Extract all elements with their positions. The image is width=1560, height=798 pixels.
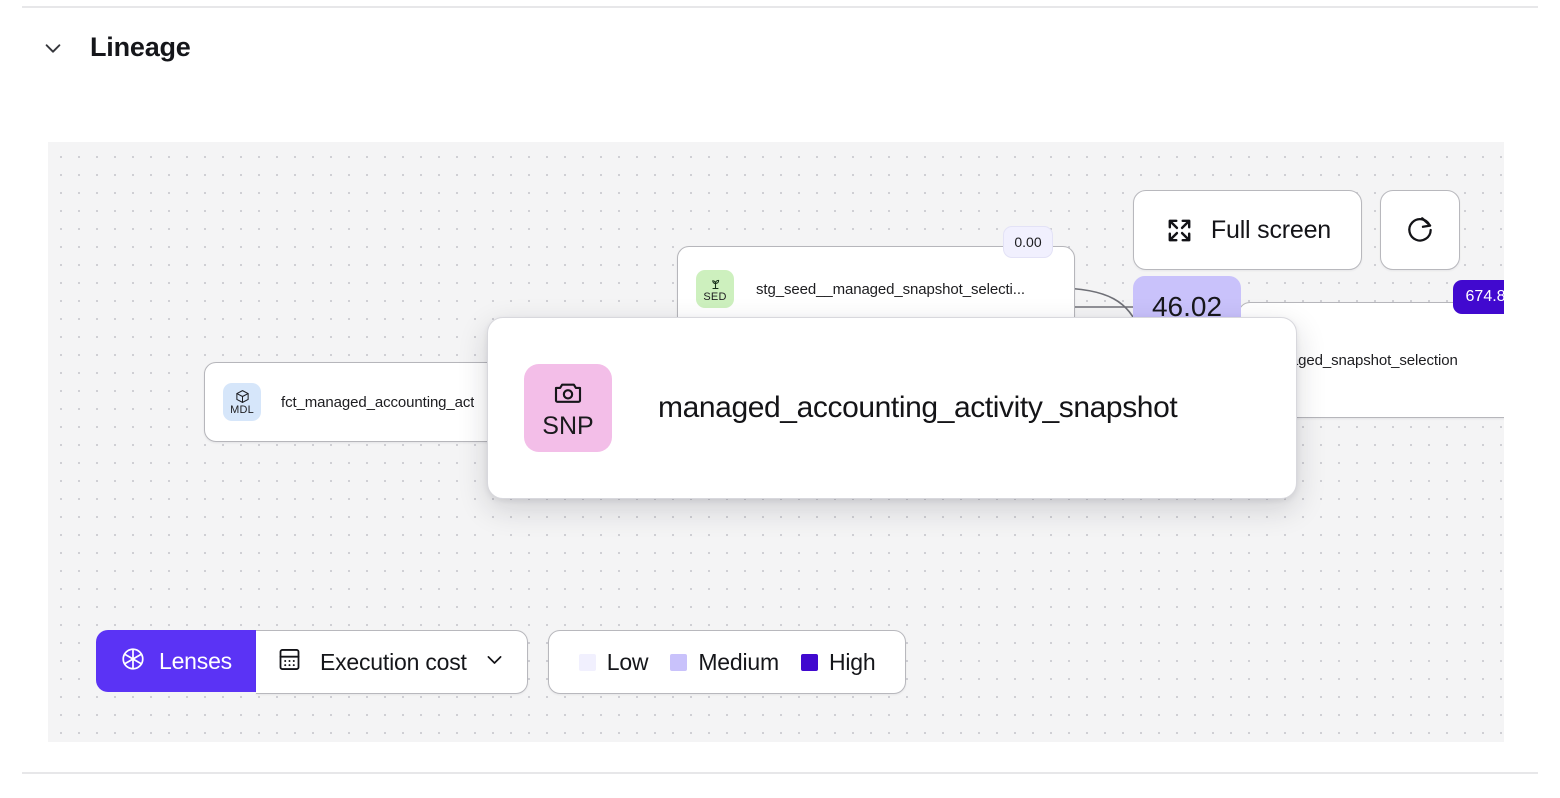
legend-item-medium: Medium: [670, 649, 779, 676]
cost-legend: Low Medium High: [548, 630, 907, 694]
canvas-toolbar: Full screen: [1133, 190, 1460, 270]
lenses-label: Lenses: [159, 648, 232, 675]
legend-label: Medium: [698, 649, 779, 676]
node-type-abbr: MDL: [230, 405, 254, 416]
sprout-icon: SED: [696, 270, 734, 308]
top-divider: [22, 6, 1538, 8]
cost-value: 0.00: [1014, 234, 1041, 250]
lens-group: Lenses Execution cost: [96, 630, 528, 694]
calculator-icon: [276, 646, 303, 678]
legend-item-low: Low: [579, 649, 649, 676]
refresh-button[interactable]: [1380, 190, 1460, 270]
cost-badge-low: 0.00: [1003, 226, 1053, 258]
cost-value: 674.87: [1466, 288, 1504, 306]
fullscreen-label: Full screen: [1211, 216, 1331, 245]
aperture-icon: [120, 646, 146, 677]
refresh-icon: [1404, 214, 1436, 246]
chevron-down-icon: [484, 649, 505, 675]
lens-select-label: Execution cost: [320, 649, 467, 676]
cost-badge-high: 674.87: [1453, 280, 1504, 314]
node-type-abbr: SNP: [542, 413, 593, 439]
lineage-section-header: Lineage: [40, 34, 191, 61]
node-label: stg_seed__managed_snapshot_selecti...: [756, 281, 1025, 298]
node-label: fct_managed_accounting_act: [281, 394, 474, 411]
legend-swatch-low: [579, 654, 596, 671]
camera-icon: SNP: [524, 364, 612, 452]
lens-select[interactable]: Execution cost: [256, 630, 528, 694]
legend-item-high: High: [801, 649, 876, 676]
lens-controls: Lenses Execution cost: [96, 630, 906, 694]
node-type-abbr: SED: [703, 292, 726, 303]
lenses-button[interactable]: Lenses: [96, 630, 256, 692]
legend-label: High: [829, 649, 876, 676]
expand-arrows-icon: [1164, 215, 1195, 246]
cube-icon: MDL: [223, 383, 261, 421]
hover-card-title: managed_accounting_activity_snapshot: [658, 391, 1177, 425]
legend-label: Low: [607, 649, 649, 676]
page-title: Lineage: [90, 34, 191, 61]
fullscreen-button[interactable]: Full screen: [1133, 190, 1362, 270]
node-hover-card[interactable]: SNP managed_accounting_activity_snapshot: [487, 317, 1297, 499]
chevron-down-icon[interactable]: [40, 35, 66, 61]
legend-swatch-high: [801, 654, 818, 671]
bottom-divider: [22, 772, 1538, 774]
legend-swatch-medium: [670, 654, 687, 671]
